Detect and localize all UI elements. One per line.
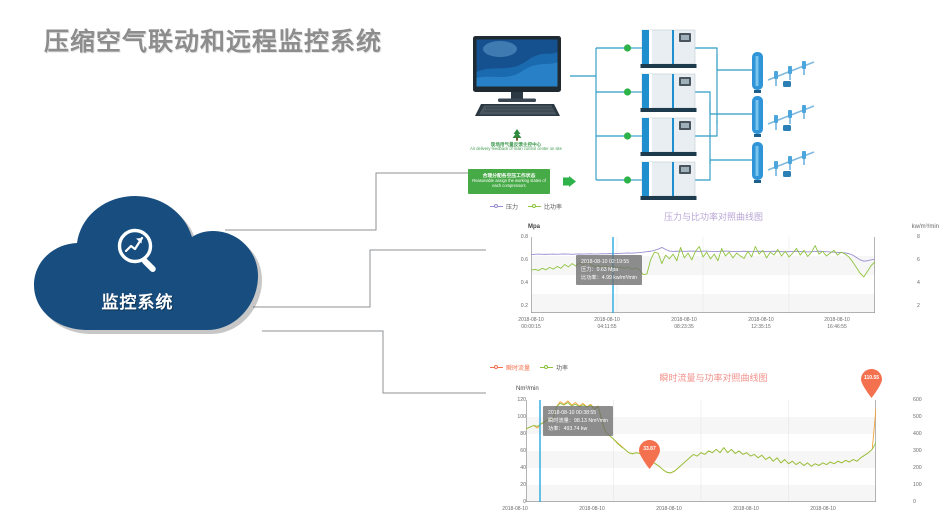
chart1-xtick-2: 2018-08-10 08:23:35 — [653, 317, 715, 331]
tree-icon — [510, 128, 524, 142]
chart2-xtick-0: 2018-08-10 — [484, 506, 546, 513]
chart2-ytick-2: 80 — [500, 431, 526, 437]
chart2-xtick-3: 2018-08-10 — [715, 506, 777, 513]
chart1-xtick-4: 2018-08-10 16:46:55 — [806, 317, 868, 331]
chart1-ytick-1: 0.6 — [508, 257, 528, 263]
chart2-min-marker[interactable]: 33.87 — [638, 440, 661, 470]
chart1-y2tick-1: 6 — [917, 257, 931, 263]
chart1-y2tick-0: 8 — [917, 234, 931, 240]
chart1-tooltip: 2018-08-10 02:19:55 压力：0.63 Mpa 比功率：4.99… — [576, 255, 642, 285]
chart2-min-marker-value: 33.87 — [638, 446, 661, 452]
chart2-ytick-5: 20 — [500, 482, 526, 488]
chart2-ytick-1: 100 — [500, 414, 526, 420]
xtick-time: 08:23:35 — [653, 324, 715, 331]
monitoring-cloud[interactable]: 监控系统 — [30, 196, 280, 348]
chart2-tooltip-timestamp: 2018-08-10 00:38:55 — [548, 409, 608, 417]
xtick-date: 2018-08-10 — [561, 506, 623, 513]
xtick-date: 2018-08-10 — [806, 317, 868, 324]
chart1-y2tick-2: 4 — [917, 280, 931, 286]
chart-pressure-vs-specific-power: 压力 比功率 压力与比功率对照曲线图 Mpa kw/m³/min 0.8 0.6… — [486, 202, 941, 334]
chart1-xtick-0: 2018-08-10 00:00:15 — [500, 317, 562, 331]
legend-marker-icon — [540, 365, 553, 371]
cloud-label: 监控系统 — [30, 288, 245, 313]
xtick-time: 04:11:55 — [576, 324, 638, 331]
diagram-caption-en: Air delivery feedback of main control ce… — [452, 147, 580, 152]
chart1-ylabel: Mpa — [528, 224, 540, 230]
xtick-time: 00:00:15 — [500, 324, 562, 331]
chart2-y2tick-5: 100 — [913, 482, 935, 488]
chart-flow-vs-power: 瞬时流量 功率 瞬时流量与功率对照曲线图 Nm³/min 120 100 80 … — [486, 363, 941, 528]
magnifier-chart-icon — [112, 224, 168, 280]
legend-marker-icon — [528, 204, 541, 210]
chart1-y2tick-3: 2 — [917, 303, 931, 309]
xtick-date: 2018-08-10 — [484, 506, 546, 513]
chart2-y2tick-6: 0 — [913, 499, 935, 505]
chart2-xtick-4: 2018-08-10 — [792, 506, 854, 513]
chart2-y2tick-3: 300 — [913, 448, 935, 454]
chart1-xtick-3: 2018-08-10 12:35:15 — [730, 317, 792, 331]
chart1-title: 压力与比功率对照曲线图 — [486, 210, 941, 223]
xtick-date: 2018-08-10 — [500, 317, 562, 324]
map-pin-icon — [638, 440, 661, 470]
chart2-xtick-1: 2018-08-10 — [561, 506, 623, 513]
chart1-tooltip-timestamp: 2018-08-10 02:19:55 — [581, 258, 637, 266]
chart2-ytick-0: 120 — [500, 397, 526, 403]
map-pin-icon — [860, 369, 883, 399]
legend-marker-icon — [490, 204, 503, 210]
chart1-ytick-3: 0.2 — [508, 303, 528, 309]
chart2-y2tick-4: 200 — [913, 465, 935, 471]
xtick-time: 16:46:55 — [806, 324, 868, 331]
diagram-caption: 现场用气量反馈主控中心 Air delivery feedback of mai… — [452, 142, 580, 152]
chart1-y2label: kw/m³/min — [912, 224, 939, 230]
xtick-date: 2018-08-10 — [792, 506, 854, 513]
chart2-ylabel: Nm³/min — [516, 386, 539, 392]
system-topology-diagram: 现场用气量反馈主控中心 Air delivery feedback of mai… — [432, 24, 932, 206]
chart2-ytick-3: 60 — [500, 448, 526, 454]
chart1-ytick-0: 0.8 — [508, 234, 528, 240]
chart2-max-marker[interactable]: 110.55 — [860, 369, 883, 399]
xtick-date: 2018-08-10 — [638, 506, 700, 513]
green-callout-en: Reasonable assign the working states of … — [468, 179, 550, 189]
chart1-tooltip-line1: 压力：0.63 Mpa — [581, 266, 637, 274]
xtick-date: 2018-08-10 — [715, 506, 777, 513]
chart1-tooltip-line2: 比功率：4.99 kw/m³/min — [581, 274, 637, 282]
chart2-ytick-4: 40 — [500, 465, 526, 471]
xtick-date: 2018-08-10 — [653, 317, 715, 324]
right-arrow-icon — [563, 176, 577, 187]
green-callout-box: 合理分配各空压工作状态 Reasonable assign the workin… — [468, 169, 550, 194]
chart2-tooltip-line1: 瞬时流量：98.13 Nm³/min — [548, 417, 608, 425]
xtick-date: 2018-08-10 — [730, 317, 792, 324]
chart2-y2tick-1: 500 — [913, 414, 935, 420]
xtick-time: 12:35:15 — [730, 324, 792, 331]
slide-canvas: 压缩空气联动和远程监控系统 监控系统 — [0, 0, 945, 529]
chart2-y2tick-2: 400 — [913, 431, 935, 437]
chart2-tooltip-line2: 功率：493.74 kw — [548, 425, 608, 433]
chart2-y2tick-0: 600 — [913, 397, 935, 403]
chart1-xtick-1: 2018-08-10 04:11:55 — [576, 317, 638, 331]
chart2-xtick-2: 2018-08-10 — [638, 506, 700, 513]
legend-marker-icon — [490, 365, 503, 371]
xtick-date: 2018-08-10 — [576, 317, 638, 324]
chart2-ytick-6: 0 — [500, 499, 526, 505]
chart2-tooltip: 2018-08-10 00:38:55 瞬时流量：98.13 Nm³/min 功… — [543, 406, 613, 436]
chart2-max-marker-value: 110.55 — [860, 375, 883, 381]
chart1-ytick-2: 0.4 — [508, 280, 528, 286]
